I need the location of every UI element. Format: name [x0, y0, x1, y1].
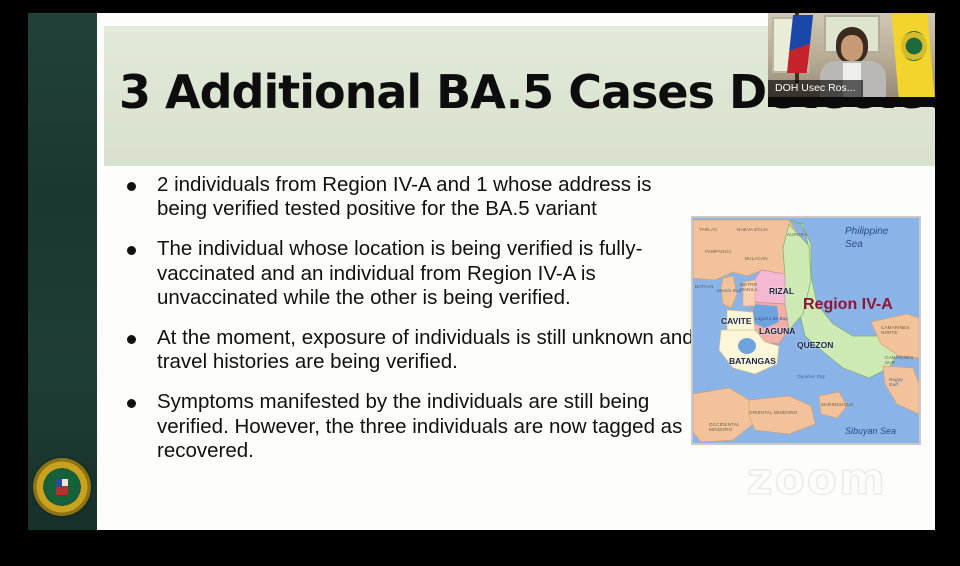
map-label-rizal: RIZAL — [769, 286, 794, 296]
map-label-quezon: QUEZON — [797, 340, 833, 350]
bullet-dot-icon — [127, 182, 136, 191]
map-label-camarines-sur: CAMARINES SUR — [885, 356, 911, 366]
map-label-laguna-de-bay: Laguna de Bay — [755, 316, 788, 321]
region-iv-a-map: Region IV-A RIZAL CAVITE LAGUNA QUEZON B… — [691, 216, 921, 445]
map-label-laguna: LAGUNA — [759, 326, 795, 336]
bullet-dot-icon — [127, 246, 136, 255]
bullet-dot-icon — [127, 399, 136, 408]
map-label-bataan: BATAAN — [695, 284, 714, 289]
participant-name-label: DOH Usec Ros... — [768, 80, 863, 97]
map-label-cavite: CAVITE — [721, 316, 752, 326]
participant-face — [841, 35, 863, 61]
agency-seal-icon — [901, 31, 927, 61]
bullet-text: 2 individuals from Region IV-A and 1 who… — [157, 173, 702, 221]
map-label-metro-manila: METRO MANILA — [740, 283, 758, 293]
doh-seal-inner — [45, 470, 79, 504]
map-label-batangas: BATANGAS — [729, 356, 776, 366]
map-label-pampanga: PAMPANGA — [705, 249, 731, 254]
map-label-bulacan: BULACAN — [745, 256, 768, 261]
doh-seal-red-field — [56, 486, 68, 495]
zoom-meeting-screen: 3 Additional BA.5 Cases Detected 2 indiv… — [0, 0, 960, 566]
map-label-tayabas-bay: Tayabas Bay — [797, 374, 825, 379]
map-label-camarines-norte: CAMARINES NORTE — [881, 326, 907, 336]
bullet-text: Symptoms manifested by the individuals a… — [157, 390, 702, 463]
list-item: At the moment, exposure of individuals i… — [127, 326, 702, 374]
list-item: 2 individuals from Region IV-A and 1 who… — [127, 173, 702, 221]
map-label-nueva-ecija: NUEVA ECIJA — [737, 227, 768, 232]
doh-seal-icon — [33, 458, 91, 516]
map-label-manila-bay: Manila Bay — [717, 288, 741, 293]
map-label-aurora: AURORA — [787, 232, 807, 237]
map-canvas: Region IV-A RIZAL CAVITE LAGUNA QUEZON B… — [693, 218, 919, 443]
participant-video-tile[interactable]: DOH Usec Ros... — [768, 13, 935, 107]
bullet-text: At the moment, exposure of individuals i… — [157, 326, 702, 374]
map-label-occidental-mindoro: OCCIDENTAL MINDORO — [709, 423, 737, 433]
bullet-dot-icon — [127, 335, 136, 344]
map-label-sibuyan-sea: Sibuyan Sea — [845, 426, 896, 436]
list-item: The individual whose location is being v… — [127, 237, 702, 310]
map-region-label: Region IV-A — [803, 296, 893, 314]
slide-bullet-list: 2 individuals from Region IV-A and 1 who… — [127, 173, 702, 479]
zoom-watermark: zoom — [747, 454, 887, 505]
map-label-philippine-sea: Philippine Sea — [845, 226, 903, 251]
video-tile-bottom-bar — [768, 97, 935, 107]
map-label-tarlac: TARLAC — [699, 227, 718, 232]
doh-seal-blue-field — [56, 479, 62, 487]
bullet-text: The individual whose location is being v… — [157, 237, 702, 310]
map-label-marinduque: MARINDUQUE — [821, 402, 854, 407]
map-label-oriental-mindoro: ORIENTAL MINDORO — [749, 410, 797, 415]
list-item: Symptoms manifested by the individuals a… — [127, 390, 702, 463]
map-label-ragay-gulf: Ragay Gulf — [889, 378, 911, 388]
